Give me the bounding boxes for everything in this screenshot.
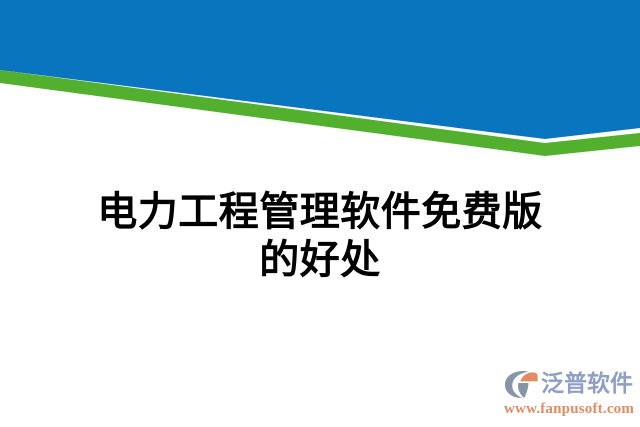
brand-logo-row: 泛普软件	[504, 368, 636, 400]
page-title: 电力工程管理软件免费版 的好处	[0, 188, 640, 284]
banner-green-accent	[0, 70, 640, 156]
page-title-line-2: 的好处	[0, 236, 640, 284]
brand-logo: 泛普软件 www.fanpusoft.com	[504, 368, 636, 420]
brand-url: www.fanpusoft.com	[504, 401, 636, 418]
slide-canvas: 电力工程管理软件免费版 的好处 泛普软件 www.fanpusoft.com	[0, 0, 640, 427]
fanpu-swoosh-logo-icon	[504, 369, 538, 399]
brand-wordmark: 泛普软件	[541, 371, 633, 397]
header-banner	[0, 0, 640, 160]
page-title-line-1: 电力工程管理软件免费版	[0, 188, 640, 236]
banner-blue-shape	[0, 0, 640, 139]
